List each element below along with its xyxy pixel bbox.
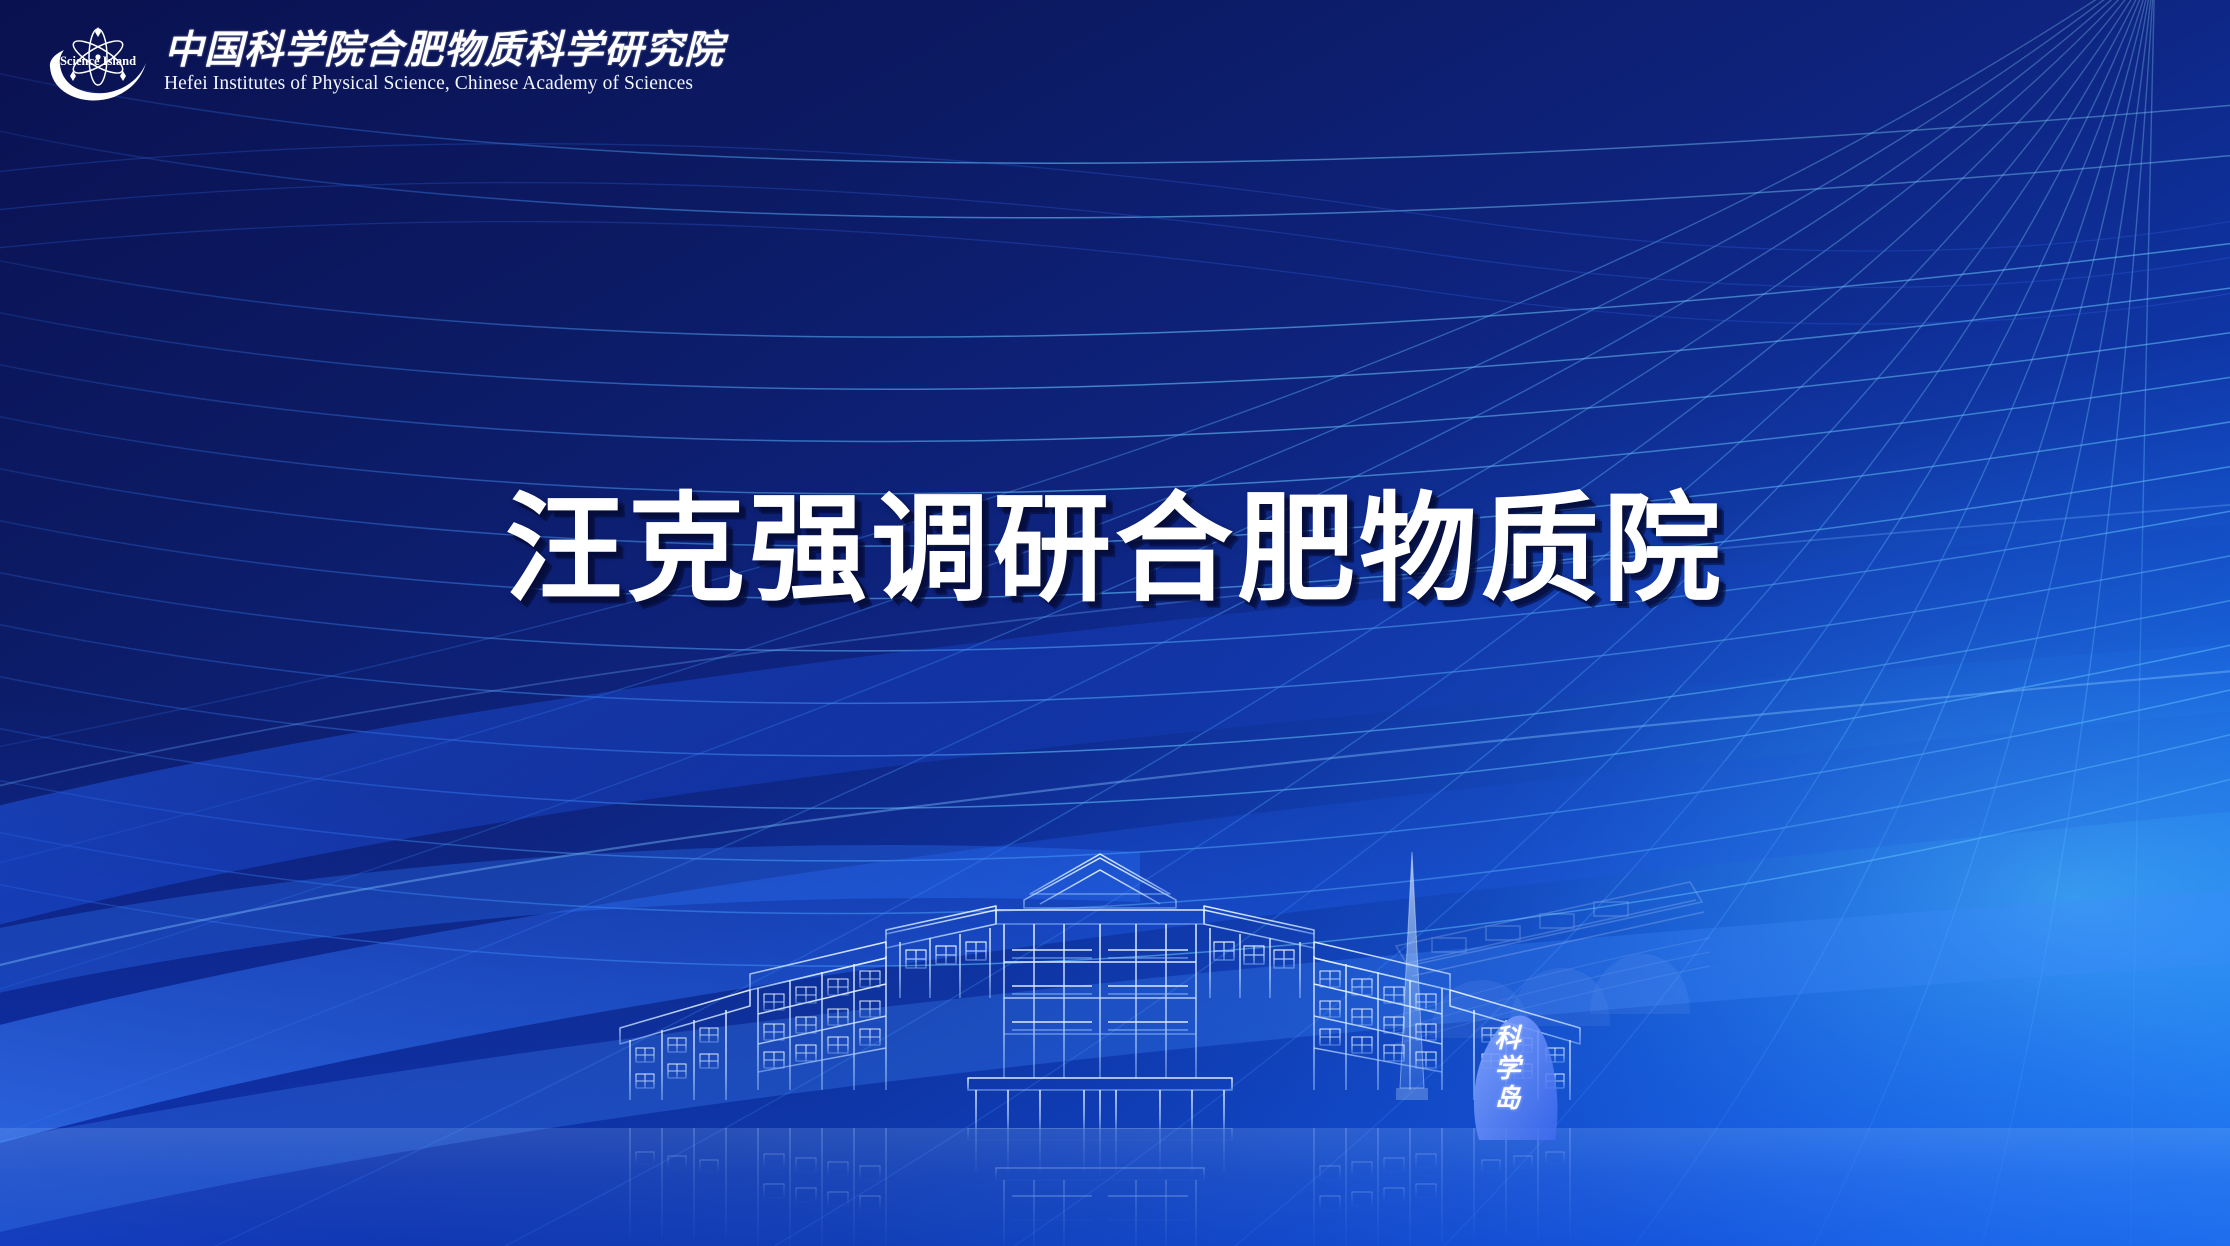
top-wave-lines bbox=[0, 144, 2230, 324]
building-water-reflection bbox=[600, 1128, 1600, 1246]
presentation-slide: 科学岛 Science bbox=[0, 0, 2230, 1246]
organization-name-en: Hefei Institutes of Physical Science, Ch… bbox=[164, 73, 724, 95]
title-container: 汪克强调研合肥物质院 bbox=[0, 488, 2230, 611]
organization-name-cn: 中国科学院合肥物质科学研究院 bbox=[164, 31, 724, 71]
science-island-atom-emblem: Science Island bbox=[42, 21, 158, 105]
institute-main-building-line-art bbox=[600, 838, 1600, 1138]
slide-title: 汪克强调研合肥物质院 bbox=[505, 488, 1725, 611]
institute-logo: Science Island 中国科学院合肥物质科学研究院 Hefei Inst… bbox=[42, 20, 724, 106]
emblem-wordmark: Science Island bbox=[60, 54, 136, 68]
logo-text-block: 中国科学院合肥物质科学研究院 Hefei Institutes of Physi… bbox=[164, 31, 724, 96]
